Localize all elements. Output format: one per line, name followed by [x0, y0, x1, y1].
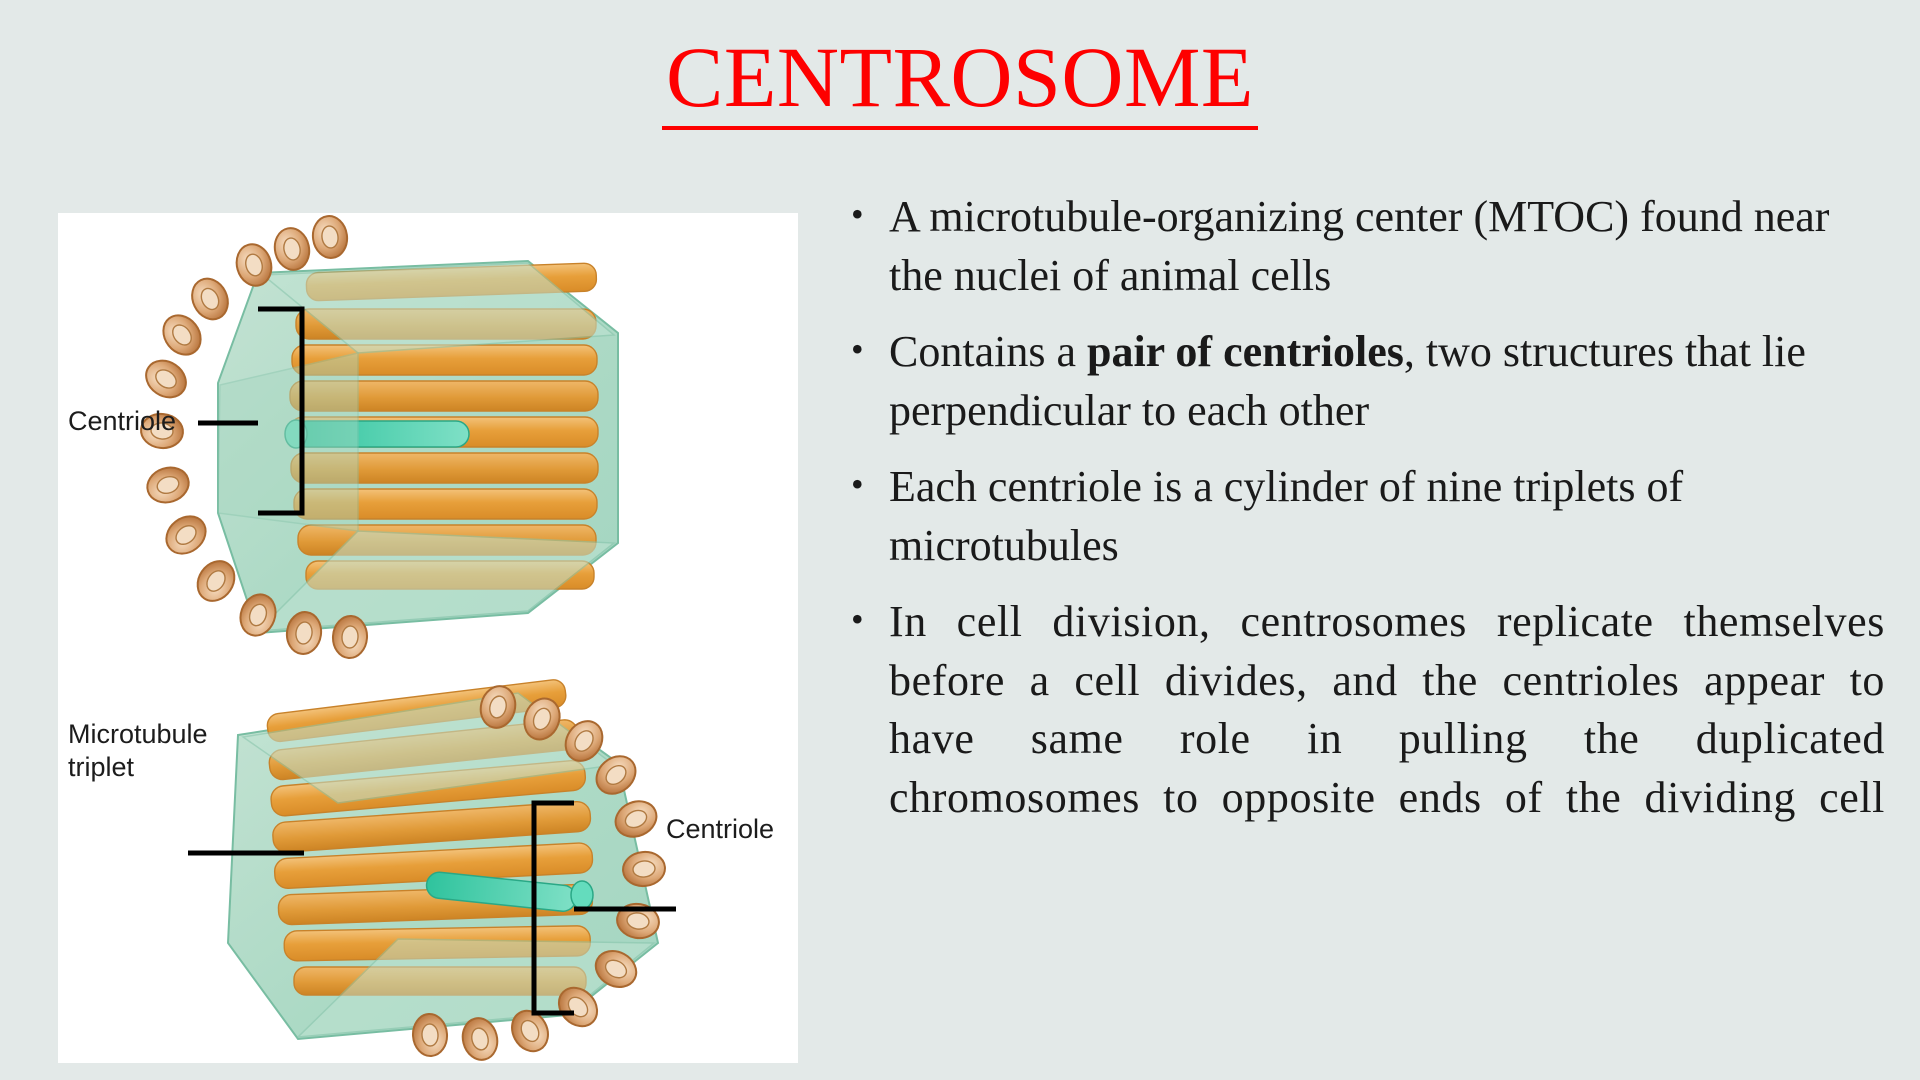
bullet-list: A microtubule-organizing center (MTOC) f… — [845, 188, 1885, 904]
upper-centriole-group — [139, 214, 618, 659]
bullet-item-centriole-pair: Contains a pair of centrioles, two struc… — [845, 323, 1885, 440]
lower-centriole-group — [228, 678, 667, 1063]
title-container: CENTROSOME — [0, 34, 1920, 130]
page-title: CENTROSOME — [662, 34, 1258, 130]
figure-label-microtubule-triplet: Microtubule triplet — [68, 718, 208, 784]
slide-root: CENTROSOME — [0, 0, 1920, 1080]
centriole-diagram: Centriole Microtubule triplet Centriole — [58, 213, 798, 1063]
bullet-item-mtoc: A microtubule-organizing center (MTOC) f… — [845, 188, 1885, 305]
figure-label-centriole-top: Centriole — [68, 405, 176, 438]
bullet-item-nine-triplets: Each centriole is a cylinder of nine tri… — [845, 458, 1885, 575]
figure-label-centriole-bottom: Centriole — [666, 813, 774, 846]
bullet-item-cell-division: In cell division, centrosomes replicate … — [845, 593, 1885, 886]
figure-panel: Centriole Microtubule triplet Centriole — [58, 213, 798, 1063]
centriole-illustration-svg — [58, 213, 798, 1063]
